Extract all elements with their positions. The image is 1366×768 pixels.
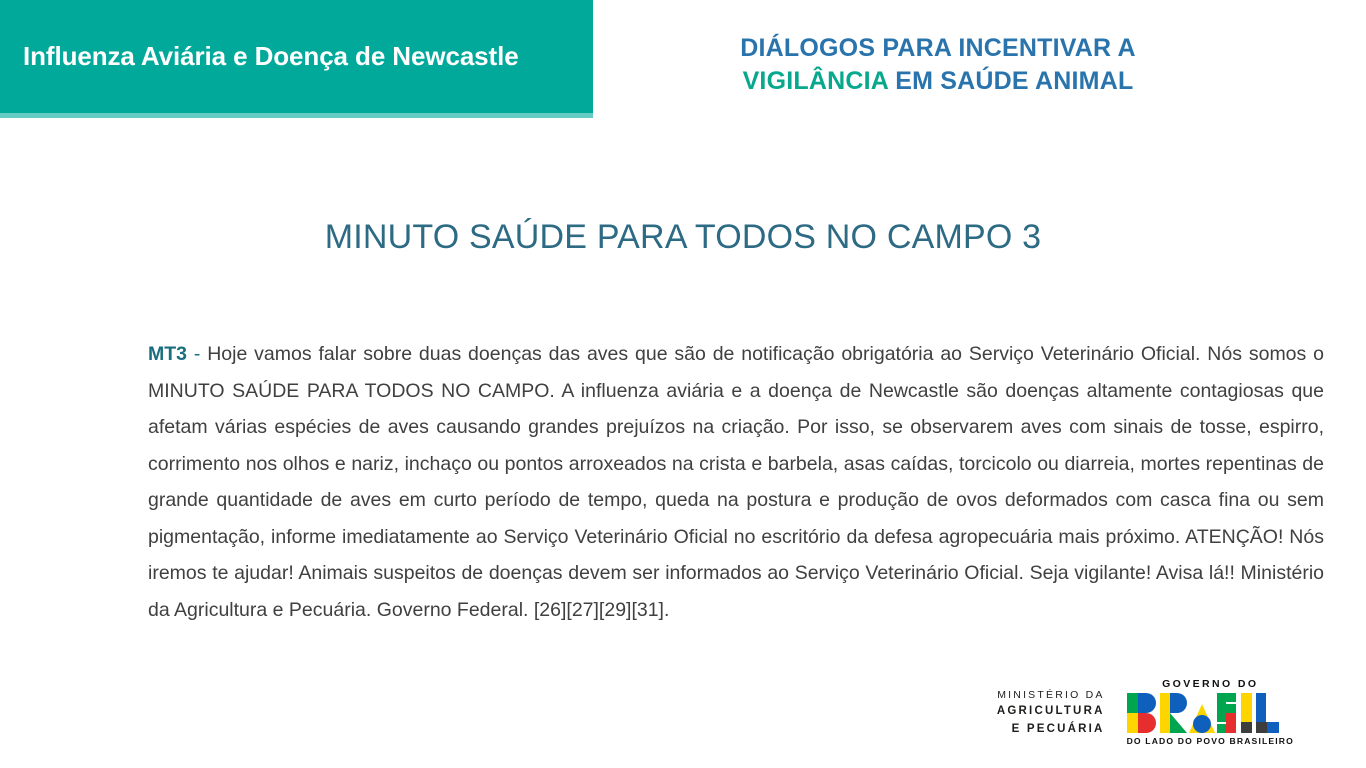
brasil-wordmark-icon	[1127, 693, 1279, 733]
campaign-headline: DIÁLOGOS PARA INCENTIVAR A VIGILÂNCIA EM…	[593, 32, 1283, 97]
headline-vigilancia: VIGILÂNCIA	[743, 67, 889, 95]
government-logo: GOVERNO DO	[1127, 679, 1294, 746]
headline-line-2: VIGILÂNCIA EM SAÚDE ANIMAL	[593, 65, 1283, 98]
ministry-line-3: E PECUÁRIA	[997, 721, 1105, 739]
speaker-separator: -	[187, 343, 207, 365]
ministry-logo: MINISTÉRIO DA AGRICULTURA E PECUÁRIA	[997, 687, 1105, 739]
footer-logos: MINISTÉRIO DA AGRICULTURA E PECUÁRIA GOV…	[997, 679, 1294, 746]
ministry-line-2: AGRICULTURA	[997, 703, 1105, 721]
banner-underline	[0, 113, 593, 118]
disease-banner-title: Influenza Aviária e Doença de Newcastle	[0, 42, 519, 72]
disease-banner: Influenza Aviária e Doença de Newcastle	[0, 0, 593, 113]
dialogue-paragraph: MT3 - Hoje vamos falar sobre duas doença…	[148, 336, 1324, 628]
slide-canvas: Influenza Aviária e Doença de Newcastle …	[0, 0, 1366, 768]
government-logo-top-text: GOVERNO DO	[1127, 679, 1294, 690]
speaker-label: MT3	[148, 343, 187, 365]
dialogue-text: Hoje vamos falar sobre duas doenças das …	[148, 343, 1324, 621]
headline-line-1: DIÁLOGOS PARA INCENTIVAR A	[593, 32, 1283, 65]
government-logo-bottom-text: DO LADO DO POVO BRASILEIRO	[1127, 737, 1294, 746]
headline-saude-animal: EM SAÚDE ANIMAL	[888, 67, 1133, 95]
ministry-line-1: MINISTÉRIO DA	[997, 687, 1105, 703]
page-title: MINUTO SAÚDE PARA TODOS NO CAMPO 3	[0, 218, 1366, 257]
